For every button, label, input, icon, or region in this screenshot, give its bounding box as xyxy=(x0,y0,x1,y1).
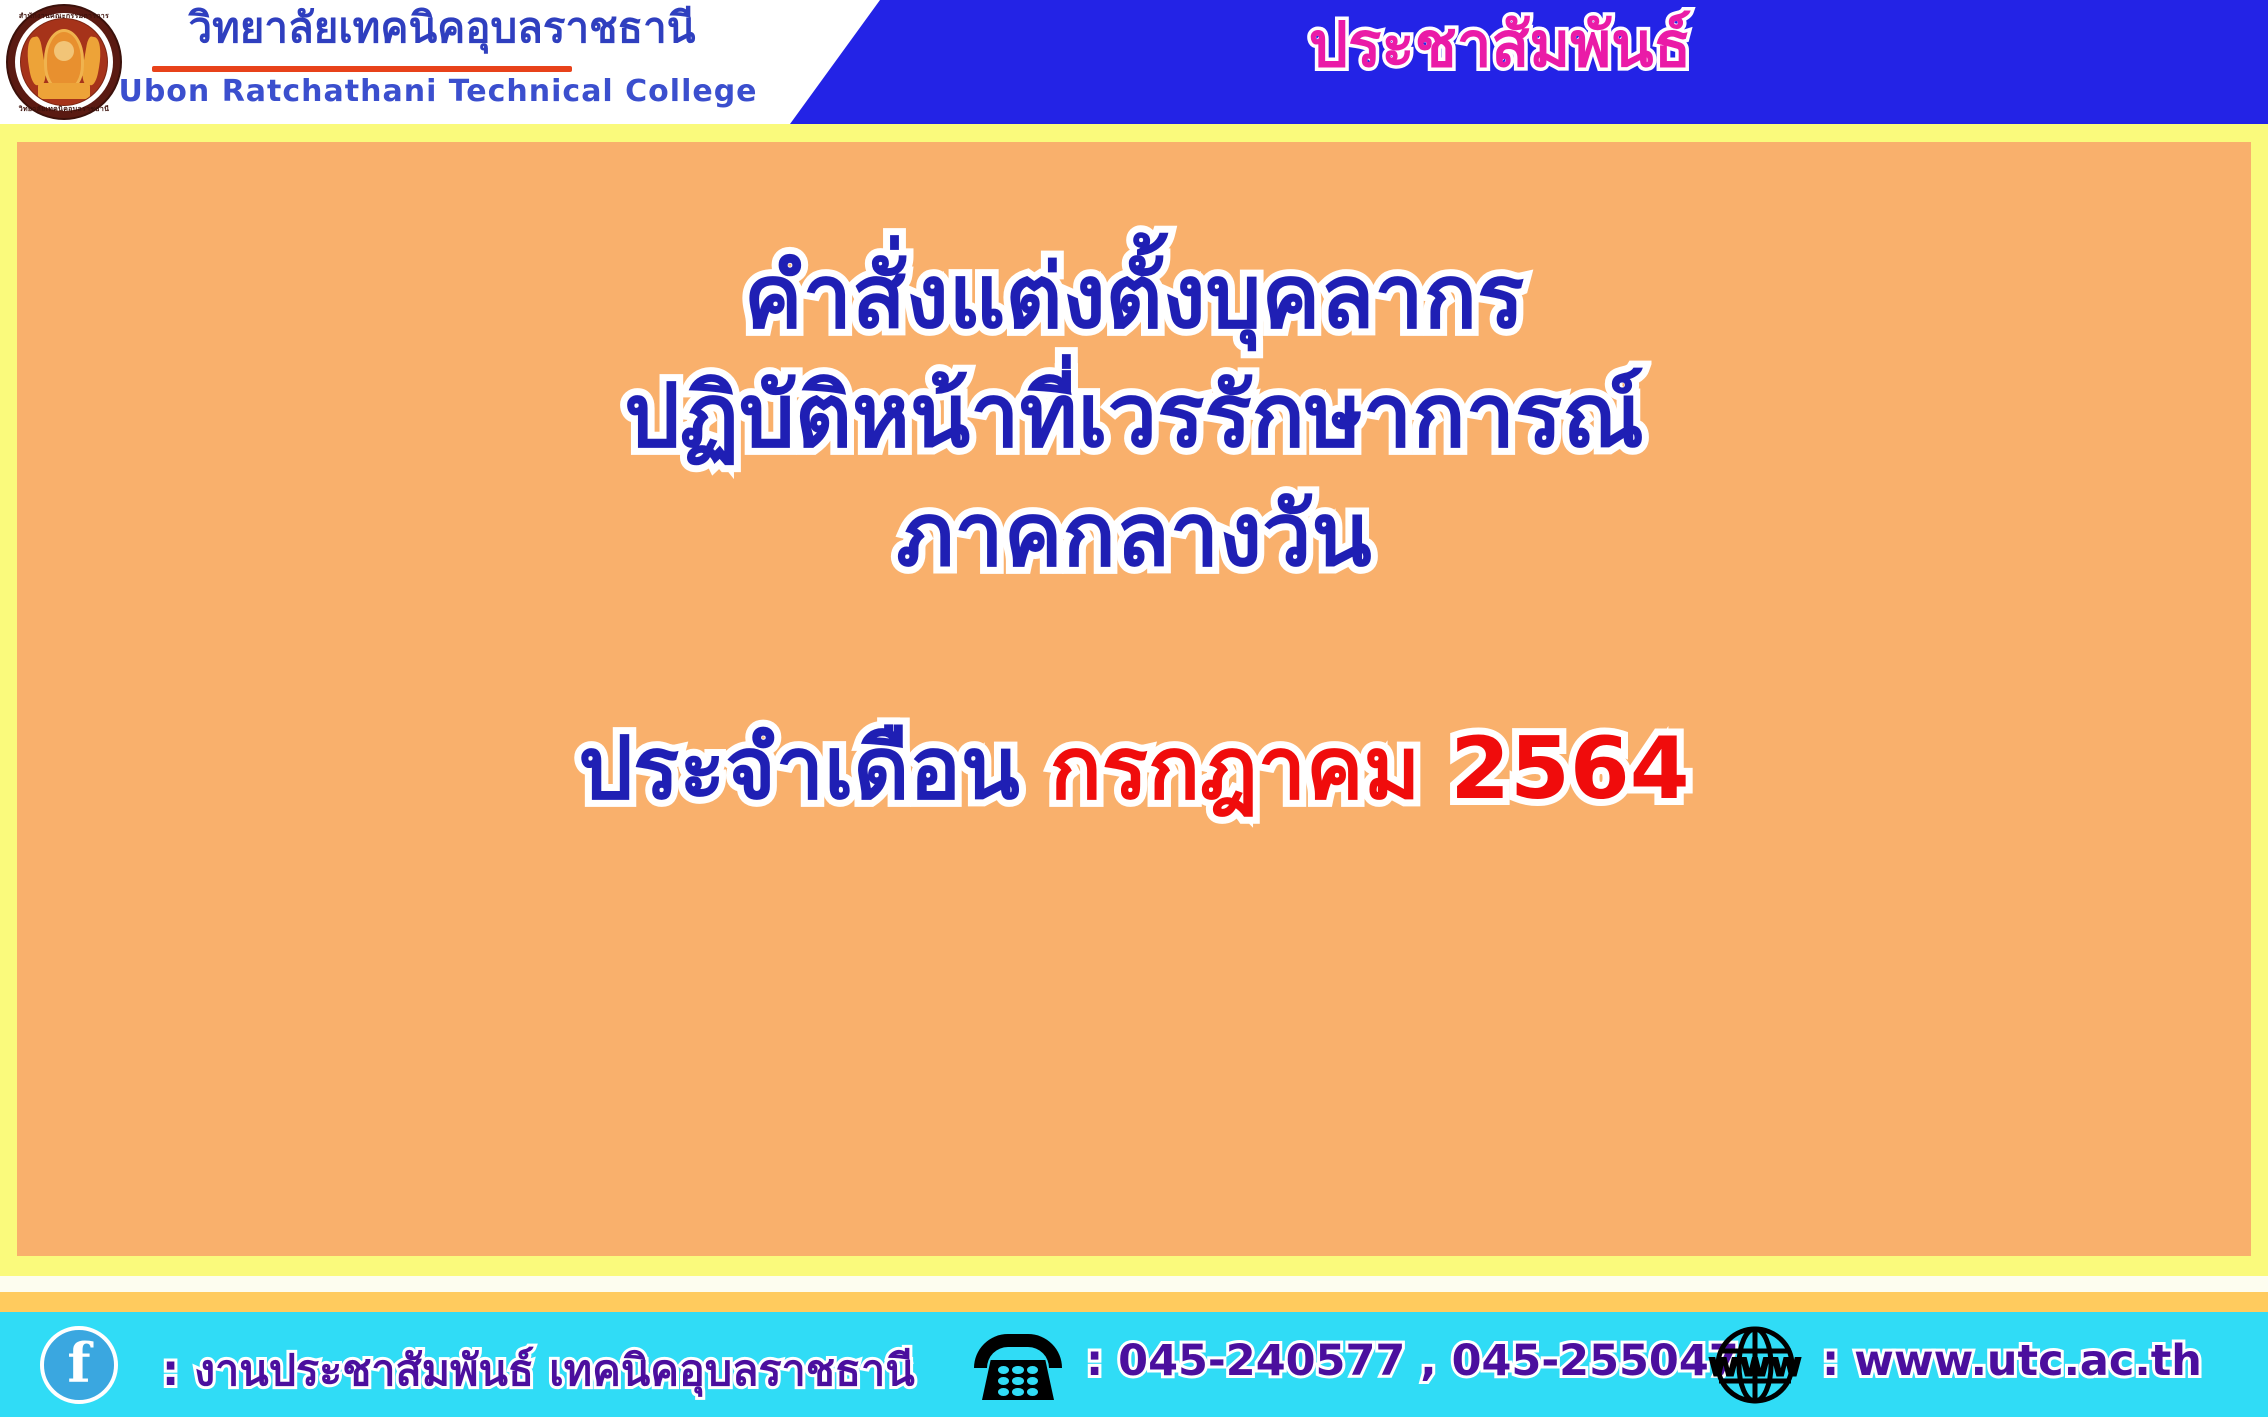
content-frame-border: คำสั่งแต่งตั้งบุคลากร ปฏิบัติหน้าที่เวรร… xyxy=(0,124,2268,1276)
month-value: กรกฎาคม 2564 xyxy=(1050,719,1690,819)
headline-spacer xyxy=(17,594,2251,714)
month-line: ประจำเดือน กรกฎาคม 2564 xyxy=(17,714,2251,826)
headline-line-2: ปฏิบัติหน้าที่เวรรักษาการณ์ xyxy=(17,357,2251,476)
headline-line-3: ภาคกลางวัน xyxy=(17,476,2251,595)
banner-title: ประชาสัมพันธ์ xyxy=(900,8,2100,82)
college-name-thai: วิทยาลัยเทคนิคอุบลราชธานี xyxy=(132,6,752,50)
poster-header: สำนักงานคณะกรรมการการอาชีวศึกษา วิทยาลัย… xyxy=(0,0,2268,124)
cream-divider-strip xyxy=(0,1276,2268,1292)
facebook-icon[interactable]: f xyxy=(40,1326,118,1404)
svg-text:www: www xyxy=(1708,1345,1802,1385)
content-body: คำสั่งแต่งตั้งบุคลากร ปฏิบัติหน้าที่เวรร… xyxy=(17,142,2251,1256)
month-prefix: ประจำเดือน xyxy=(578,719,1049,819)
website-label: : www.utc.ac.th xyxy=(1822,1336,2202,1386)
facebook-label: : งานประชาสัมพันธ์ เทคนิคอุบลราชธานี xyxy=(162,1336,915,1404)
content-panel: คำสั่งแต่งตั้งบุคลากร ปฏิบัติหน้าที่เวรร… xyxy=(17,142,2251,1256)
gold-divider-strip xyxy=(0,1292,2268,1312)
poster-footer: f : งานประชาสัมพันธ์ เทคนิคอุบลราชธานี :… xyxy=(0,1312,2268,1417)
globe-www-icon: www xyxy=(1700,1326,1810,1404)
phone-label: : 045-240577 , 045-255047 xyxy=(1086,1336,1739,1386)
announcement-headline: คำสั่งแต่งตั้งบุคลากร ปฏิบัติหน้าที่เวรร… xyxy=(17,238,2251,594)
telephone-icon xyxy=(970,1334,1066,1398)
headline-line-1: คำสั่งแต่งตั้งบุคลากร xyxy=(17,238,2251,357)
college-name-english: Ubon Ratchathani Technical College xyxy=(118,74,758,109)
college-seal-icon: สำนักงานคณะกรรมการการอาชีวศึกษา วิทยาลัย… xyxy=(6,4,126,120)
header-divider-rule xyxy=(152,66,572,72)
announcement-poster: สำนักงานคณะกรรมการการอาชีวศึกษา วิทยาลัย… xyxy=(0,0,2268,1417)
